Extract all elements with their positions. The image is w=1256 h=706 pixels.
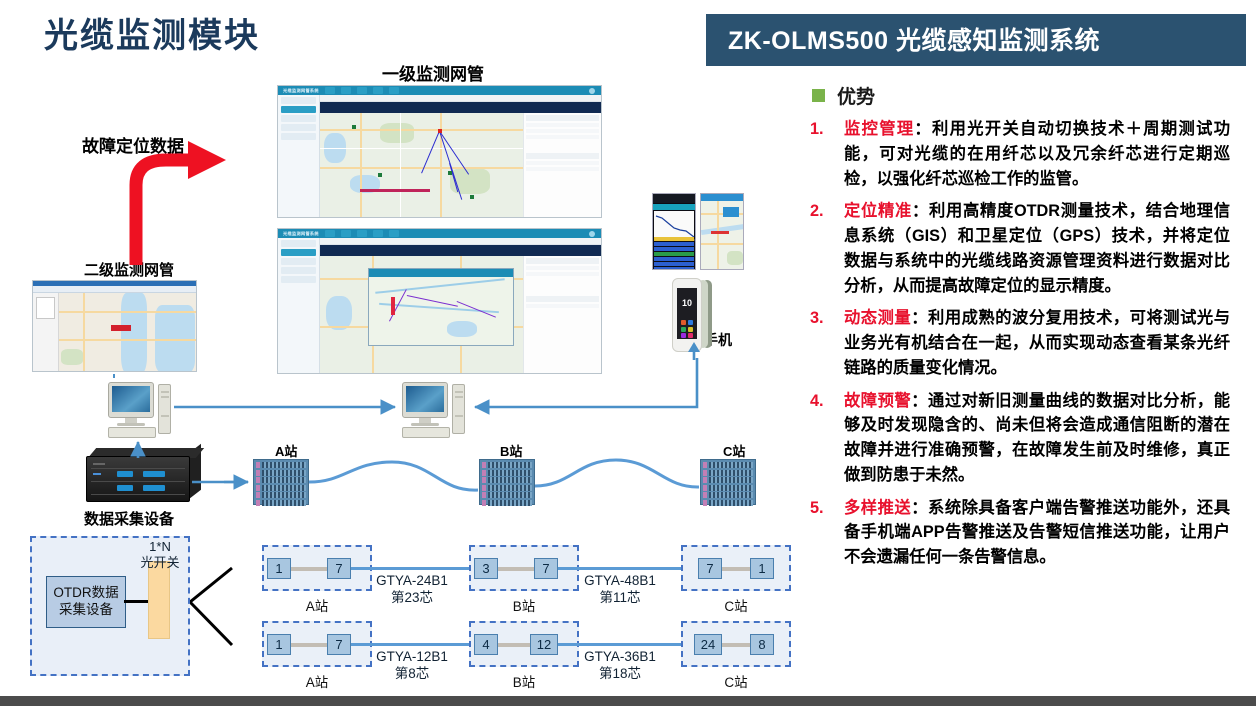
fault-data-arrow-icon [136, 141, 226, 265]
row1-station-b-port-0: 4 [474, 634, 498, 655]
odf-panel-b [479, 459, 535, 505]
advantage-item-2: 2.定位精准：利用高精度OTDR测量技术，结合地理信息系统（GIS）和卫星定位（… [810, 199, 1230, 298]
row0-station-b-port-1: 7 [534, 558, 558, 579]
row1-station-a-port-0: 1 [267, 634, 291, 655]
otdr-to-switch-cable [124, 600, 148, 603]
cable-a-to-b [309, 462, 478, 490]
row1-station-b-jumper [498, 643, 530, 647]
advantage-item-3: 3.动态测量：利用成熟的波分复用技术，可将测试光与业务光有机结合在一起，从而实现… [810, 306, 1230, 380]
product-title-bar: ZK-OLMS500 光缆感知监测系统 [706, 14, 1246, 66]
advantage-number: 1. [810, 117, 824, 142]
advantage-number: 4. [810, 389, 824, 414]
row0-cable-a-b [351, 567, 471, 570]
otdr-collector-box: OTDR数据 采集设备 [46, 576, 126, 628]
row1-station-a-label: A站 [282, 671, 352, 691]
row0-station-b-port-0: 3 [474, 558, 498, 579]
row1-station-a-jumper [291, 643, 327, 647]
advantage-number: 2. [810, 199, 824, 224]
row0-station-b-jumper [498, 567, 534, 571]
advantage-keyword: 故障预警 [844, 392, 911, 410]
advantages-panel: ZK-OLMS500 光缆感知监测系统 优势 1.监控管理：利用光开关自动切换技… [706, 14, 1246, 694]
advantage-keyword: 多样推送 [844, 499, 911, 517]
advantages-list: 1.监控管理：利用光开关自动切换技术＋周期测试功能，可对光缆的在用纤芯以及冗余纤… [810, 117, 1230, 570]
advantages-heading: 优势 [812, 82, 1246, 109]
row1-cable-a-b-label: GTYA-12B1 第8芯 [362, 649, 462, 683]
optical-switch-label: 1*N 光开关 [133, 539, 187, 572]
label-odf-station-b: B站 [500, 441, 522, 460]
row0-cable-b-c-label: GTYA-48B1 第11芯 [570, 573, 670, 607]
advantage-number: 5. [810, 496, 824, 521]
label-collector: 数据采集设备 [84, 508, 174, 529]
row1-station-a-port-1: 7 [327, 634, 351, 655]
row0-station-a-jumper [291, 567, 327, 571]
row1-station-b-label: B站 [489, 671, 559, 691]
screenshot-level1-nms-map: 光缆监测网管系统 [277, 85, 602, 218]
odf-panel-a [253, 459, 309, 505]
row1-cable-b-c [558, 643, 683, 646]
advantages-heading-label: 优势 [837, 82, 875, 109]
slide-canvas: 光缆监测模块 一级监测网管 故障定位数据 二级监测网管 手机APP 智能手机 数… [0, 0, 1256, 706]
row0-cable-b-c [558, 567, 683, 570]
row0-station-a-label: A站 [282, 595, 352, 615]
row1-cable-b-c-label: GTYA-36B1 第18芯 [570, 649, 670, 683]
advantage-number: 3. [810, 306, 824, 331]
row0-station-a-port-0: 1 [267, 558, 291, 579]
advantage-item-1: 1.监控管理：利用光开关自动切换技术＋周期测试功能，可对光缆的在用纤芯以及冗余纤… [810, 117, 1230, 191]
advantage-item-4: 4.故障预警：通过对新旧测量曲线的数据对比分析，能够及时发现隐含的、尚未但将会造… [810, 389, 1230, 488]
data-acquisition-device [86, 456, 190, 502]
advantage-keyword: 定位精准 [844, 202, 912, 220]
screenshot-app-otdr-curve [652, 193, 696, 270]
label-level2-nms: 二级监测网管 [84, 259, 174, 280]
footer-bar [0, 696, 1256, 706]
square-bullet-icon [812, 89, 825, 102]
label-level1-nms: 一级监测网管 [382, 60, 484, 85]
row0-cable-a-b-label: GTYA-24B1 第23芯 [362, 573, 462, 607]
row1-station-b-port-1: 12 [530, 634, 558, 655]
splitter-branch-bottom [190, 602, 232, 645]
optical-switch-bar [148, 561, 170, 639]
advantage-item-5: 5.多样推送：系统除具备客户端告警推送功能外，还具备手机端APP告警推送及告警短… [810, 496, 1230, 570]
architecture-diagram: 一级监测网管 故障定位数据 二级监测网管 手机APP 智能手机 数据采集设备 A… [0, 0, 706, 706]
advantage-keyword: 监控管理 [844, 120, 914, 138]
row0-station-b-label: B站 [489, 595, 559, 615]
screenshot-level2-nms [32, 280, 197, 372]
row1-cable-a-b [351, 643, 471, 646]
label-fault-data: 故障定位数据 [82, 132, 184, 157]
row0-station-a-port-1: 7 [327, 558, 351, 579]
screenshot-level1-nms-detail: 光缆监测网管系统 [277, 228, 602, 374]
cable-b-to-c [535, 460, 699, 487]
advantage-keyword: 动态测量 [844, 309, 911, 327]
label-odf-station-a: A站 [275, 441, 297, 460]
